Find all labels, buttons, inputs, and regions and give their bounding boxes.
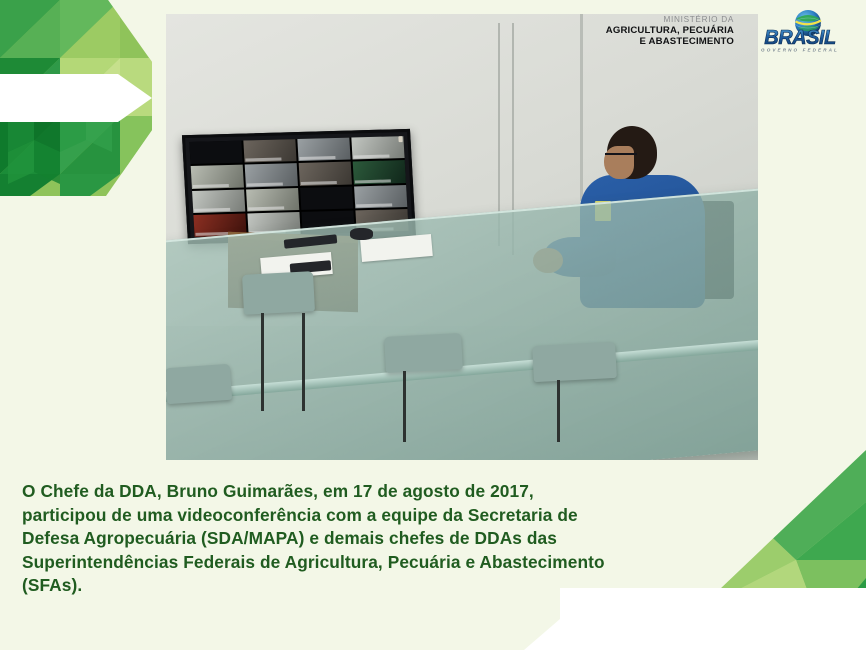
ministry-line-2: AGRICULTURA, PECUÁRIA: [606, 25, 734, 36]
photo-chair-4: [166, 364, 232, 404]
photo-chair-1-leg: [261, 313, 264, 411]
caption-text: O Chefe da DDA, Bruno Guimarães, em 17 d…: [22, 480, 694, 598]
svg-text:BRASIL: BRASIL: [764, 27, 836, 49]
caption-line-1: O Chefe da DDA, Bruno Guimarães, em 17 d…: [22, 480, 694, 504]
footer-content: MINISTÉRIO DA AGRICULTURA, PECUÁRIA E AB…: [606, 0, 856, 62]
photo-chair-3: [532, 342, 617, 382]
caption-line-4: Superintendências Federais de Agricultur…: [22, 551, 694, 575]
top-left-decoration: [0, 0, 152, 196]
slide-canvas: O Chefe da DDA, Bruno Guimarães, em 17 d…: [0, 0, 866, 650]
svg-text:GOVERNO FEDERAL: GOVERNO FEDERAL: [761, 48, 839, 53]
footer-bar: [524, 588, 866, 650]
photo-chair-3-leg: [557, 380, 560, 442]
photo-chair-2: [384, 333, 463, 373]
caption-line-3: Defesa Agropecuária (SDA/MAPA) e demais …: [22, 527, 694, 551]
photo-tv-indicator: [398, 136, 402, 142]
meeting-photo: [166, 14, 758, 460]
brasil-government-logo: BRASIL GOVERNO FEDERAL: [744, 8, 856, 54]
photo-chair-1-leg-b: [302, 313, 305, 411]
photo-chair-1: [242, 271, 315, 315]
ministry-line-3: E ABASTECIMENTO: [606, 36, 734, 47]
photo-mouse: [350, 228, 374, 240]
ministry-line-1: MINISTÉRIO DA: [606, 15, 734, 25]
ministry-wordmark: MINISTÉRIO DA AGRICULTURA, PECUÁRIA E AB…: [606, 15, 734, 47]
photo-chair-2-leg: [403, 371, 406, 442]
photo-wall-corner: [580, 14, 583, 201]
photo-man-face: [604, 146, 634, 179]
photo-man-glasses: [605, 153, 637, 155]
caption-line-2: participou de uma videoconferência com a…: [22, 504, 694, 528]
